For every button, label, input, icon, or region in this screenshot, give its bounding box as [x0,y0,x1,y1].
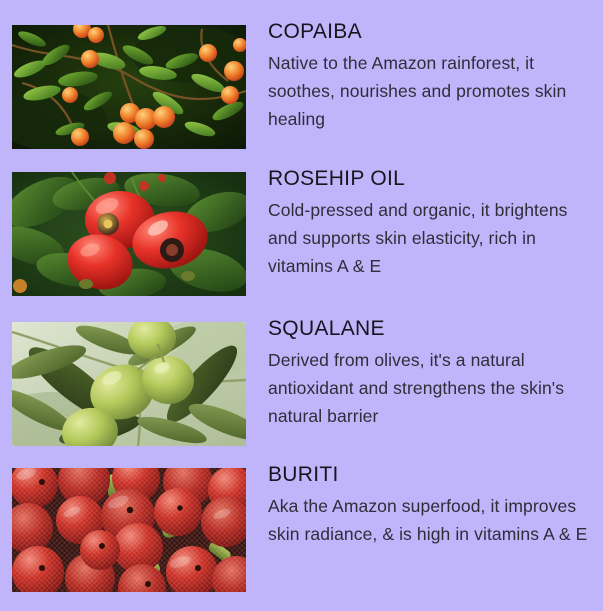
ingredient-row: SQUALANE Derived from olives, it's a nat… [12,322,591,446]
ingredient-row: BURITI Aka the Amazon superfood, it impr… [12,468,591,592]
ingredient-description: Aka the Amazon superfood, it improves sk… [268,492,591,548]
ingredient-title: COPAIBA [268,19,591,45]
ingredient-list-page: COPAIBA Native to the Amazon rainforest,… [0,0,603,611]
ingredient-title: BURITI [268,462,591,488]
ingredient-description: Derived from olives, it's a natural anti… [268,346,591,430]
ingredient-text: SQUALANE Derived from olives, it's a nat… [246,316,591,430]
copaiba-berries-photo [12,25,246,149]
ingredient-description: Cold-pressed and organic, it brightens a… [268,196,591,280]
green-olives-photo [12,322,246,446]
ingredient-description: Native to the Amazon rainforest, it soot… [268,49,591,133]
ingredient-title: SQUALANE [268,316,591,342]
ingredient-row: COPAIBA Native to the Amazon rainforest,… [12,25,591,149]
ingredient-title: ROSEHIP OIL [268,166,591,192]
ingredient-row: ROSEHIP OIL Cold-pressed and organic, it… [12,172,591,296]
ingredient-text: COPAIBA Native to the Amazon rainforest,… [246,19,591,133]
ingredient-text: BURITI Aka the Amazon superfood, it impr… [246,462,591,548]
ingredient-text: ROSEHIP OIL Cold-pressed and organic, it… [246,166,591,280]
buriti-fruit-photo [12,468,246,592]
rosehip-fruit-photo [12,172,246,296]
